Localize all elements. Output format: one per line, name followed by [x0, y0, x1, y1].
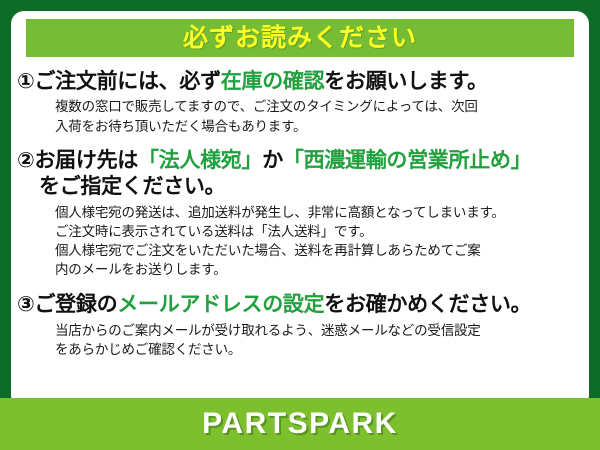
notice-item-1-heading-part-3: をお願いします。 — [324, 70, 488, 93]
notice-item-3-description-line-2: をあらかじめご確認ください。 — [55, 340, 581, 359]
notice-item-1: ①ご注文前には、必ず在庫の確認をお願いします。 複数の窓口で販売してますので、ご… — [17, 69, 581, 136]
notice-body: ①ご注文前には、必ず在庫の確認をお願いします。 複数の窓口で販売してますので、ご… — [11, 63, 589, 408]
page-title: 必ずお読みください — [183, 26, 417, 51]
notice-item-2-description: 個人様宅宛の発送は、追加送料が発生し、非常に高額となってしまいます。 ご注文時に… — [17, 203, 581, 280]
notice-item-1-marker: ① — [17, 70, 34, 93]
notice-item-2-heading-part-3: か — [262, 149, 283, 172]
header-banner: 必ずお読みください — [26, 19, 574, 57]
notice-item-2-description-line-2: ご注文時に表示されている送料は「法人送料」です。 — [55, 222, 581, 241]
notice-item-3-heading-part-3: をお確かめください。 — [324, 293, 531, 316]
notice-item-2-heading-part-1: お届け先は — [34, 149, 138, 172]
notice-item-2-description-line-1: 個人様宅宛の発送は、追加送料が発生し、非常に高額となってしまいます。 — [55, 203, 581, 222]
notice-item-1-heading-accent: 在庫の確認 — [221, 70, 325, 93]
notice-item-1-heading: ①ご注文前には、必ず在庫の確認をお願いします。 — [17, 69, 581, 95]
notice-item-2: ②お届け先は「法人様宛」か「西濃運輸の営業所止め」 をご指定ください。 個人様宅… — [17, 148, 581, 280]
notice-item-2-heading-accent-1: 「法人様宛」 — [138, 149, 262, 172]
notice-item-1-description-line-1: 複数の窓口で販売してますので、ご注文のタイミングによっては、次回 — [55, 97, 581, 116]
notice-item-3-heading: ③ご登録のメールアドレスの設定をお確かめください。 — [17, 292, 581, 318]
notice-frame: 必ずお読みください ①ご注文前には、必ず在庫の確認をお願いします。 複数の窓口で… — [0, 0, 600, 450]
notice-item-1-description: 複数の窓口で販売してますので、ご注文のタイミングによっては、次回 入荷をお待ち頂… — [17, 97, 581, 135]
notice-item-2-heading: ②お届け先は「法人様宛」か「西濃運輸の営業所止め」 をご指定ください。 — [17, 148, 581, 201]
notice-item-1-heading-part-1: ご注文前には、必ず — [34, 70, 220, 93]
brand-logo: PARTSPARK — [202, 409, 398, 439]
notice-item-2-heading-accent-2: 「西濃運輸の営業所止め」 — [283, 149, 531, 172]
notice-item-3-marker: ③ — [17, 293, 34, 316]
footer-bar: PARTSPARK — [0, 398, 600, 450]
notice-item-3-heading-accent: メールアドレスの設定 — [117, 293, 324, 316]
notice-item-2-heading-line-2: をご指定ください。 — [17, 174, 581, 200]
notice-item-1-description-line-2: 入荷をお待ち頂いただく場合もあります。 — [55, 117, 581, 136]
notice-item-2-description-line-3: 個人様宅宛でご注文をいただいた場合、送料を再計算しあらためてご案 — [55, 241, 581, 260]
notice-item-2-description-line-4: 内のメールをお送りします。 — [55, 260, 581, 279]
notice-item-3-heading-part-1: ご登録の — [34, 293, 117, 316]
notice-item-3-description: 当店からのご案内メールが受け取れるよう、迷惑メールなどの受信設定 をあらかじめご… — [17, 321, 581, 359]
notice-item-3: ③ご登録のメールアドレスの設定をお確かめください。 当店からのご案内メールが受け… — [17, 292, 581, 359]
notice-card: 必ずお読みください ①ご注文前には、必ず在庫の確認をお願いします。 複数の窓口で… — [11, 11, 589, 408]
notice-item-3-description-line-1: 当店からのご案内メールが受け取れるよう、迷惑メールなどの受信設定 — [55, 321, 581, 340]
notice-item-2-marker: ② — [17, 149, 34, 172]
